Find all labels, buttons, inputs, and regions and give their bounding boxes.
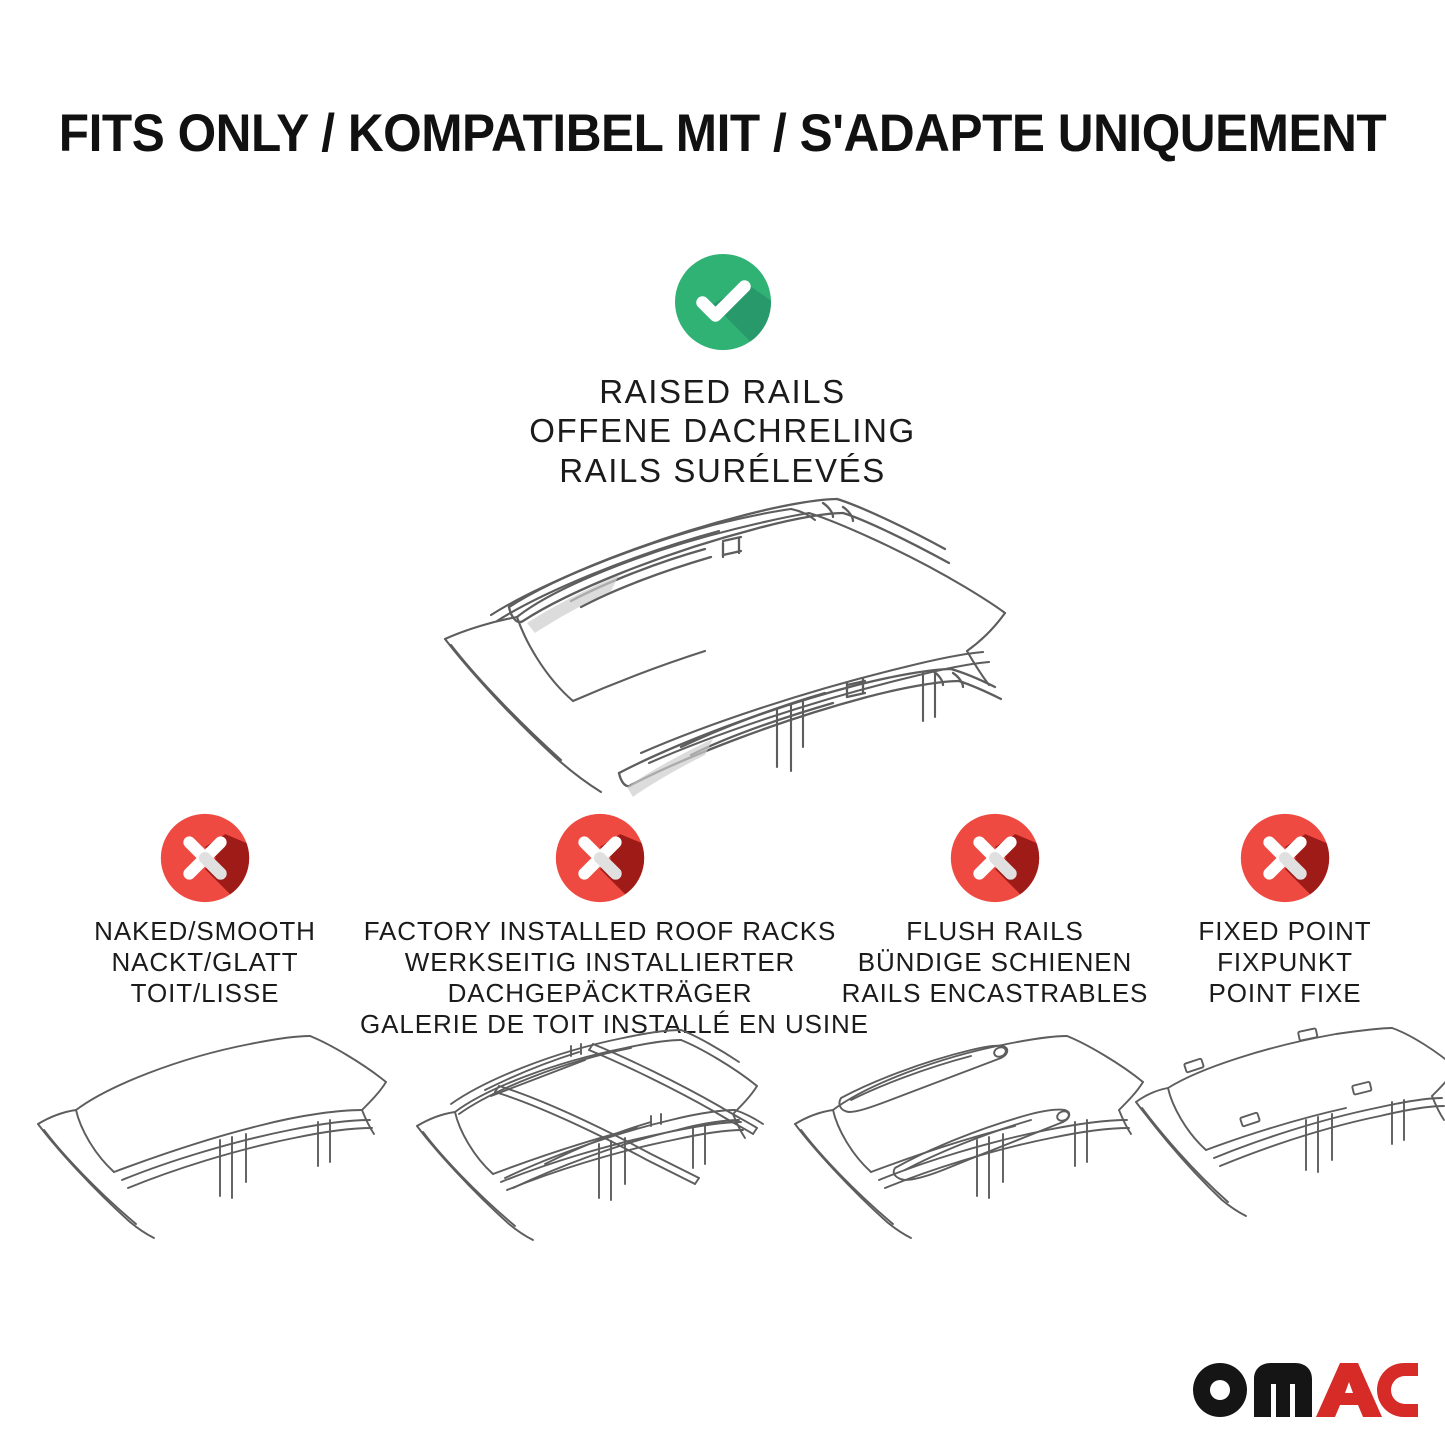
compatible-section: RAISED RAILS OFFENE DACHRELING RAILS SUR… [0,252,1445,490]
page-title: FITS ONLY / KOMPATIBEL MIT / S'ADAPTE UN… [47,103,1398,164]
incompatible-labels: NAKED/SMOOTH NACKT/GLATT TOIT/LISSE [35,916,375,1009]
x-circle-icon [159,812,251,904]
label-en: FIXED POINT [1150,916,1420,947]
label-en: FLUSH RAILS [830,916,1160,947]
label-de: NACKT/GLATT [35,947,375,978]
label-en: NAKED/SMOOTH [35,916,375,947]
car-roof-raised-rails-illustration [405,495,1045,795]
label-fr: RAILS ENCASTRABLES [830,978,1160,1009]
x-circle-icon [1239,812,1331,904]
compatible-labels: RAISED RAILS OFFENE DACHRELING RAILS SUR… [0,372,1445,490]
label-en: FACTORY INSTALLED ROOF RACKS [360,916,840,947]
compatibility-infographic: FITS ONLY / KOMPATIBEL MIT / S'ADAPTE UN… [0,0,1445,1445]
omac-logo [1192,1362,1418,1418]
label-fr: POINT FIXE [1150,978,1420,1009]
label-de-1: WERKSEITIG INSTALLIERTER [360,947,840,978]
logo-letter-c [1377,1363,1418,1417]
incompatible-column-flush-rails: FLUSH RAILS BÜNDIGE SCHIENEN RAILS ENCAS… [830,812,1160,1009]
compatible-label-en: RAISED RAILS [0,372,1445,411]
check-circle-icon [673,252,773,352]
car-roof-fixed-point-illustration [1128,1020,1445,1240]
compatible-label-de: OFFENE DACHRELING [0,411,1445,450]
x-circle-icon [554,812,646,904]
incompatible-column-naked-smooth: NAKED/SMOOTH NACKT/GLATT TOIT/LISSE [35,812,375,1009]
incompatible-labels: FIXED POINT FIXPUNKT POINT FIXE [1150,916,1420,1009]
label-de-2: DACHGEPÄCKTRÄGER [360,978,840,1009]
car-roof-flush-rails-illustration [775,1020,1155,1240]
label-de: BÜNDIGE SCHIENEN [830,947,1160,978]
label-de: FIXPUNKT [1150,947,1420,978]
car-roof-factory-racks-illustration [395,1020,775,1240]
incompatible-column-fixed-point: FIXED POINT FIXPUNKT POINT FIXE [1150,812,1420,1009]
logo-letter-m [1254,1363,1312,1417]
car-roof-naked-smooth-illustration [18,1020,398,1240]
label-fr: TOIT/LISSE [35,978,375,1009]
incompatible-labels: FLUSH RAILS BÜNDIGE SCHIENEN RAILS ENCAS… [830,916,1160,1009]
compatible-label-fr: RAILS SURÉLEVÉS [0,451,1445,490]
logo-letter-a [1316,1363,1382,1417]
incompatible-column-factory-racks: FACTORY INSTALLED ROOF RACKS WERKSEITIG … [360,812,840,1040]
logo-letter-o [1193,1363,1247,1417]
x-circle-icon [949,812,1041,904]
